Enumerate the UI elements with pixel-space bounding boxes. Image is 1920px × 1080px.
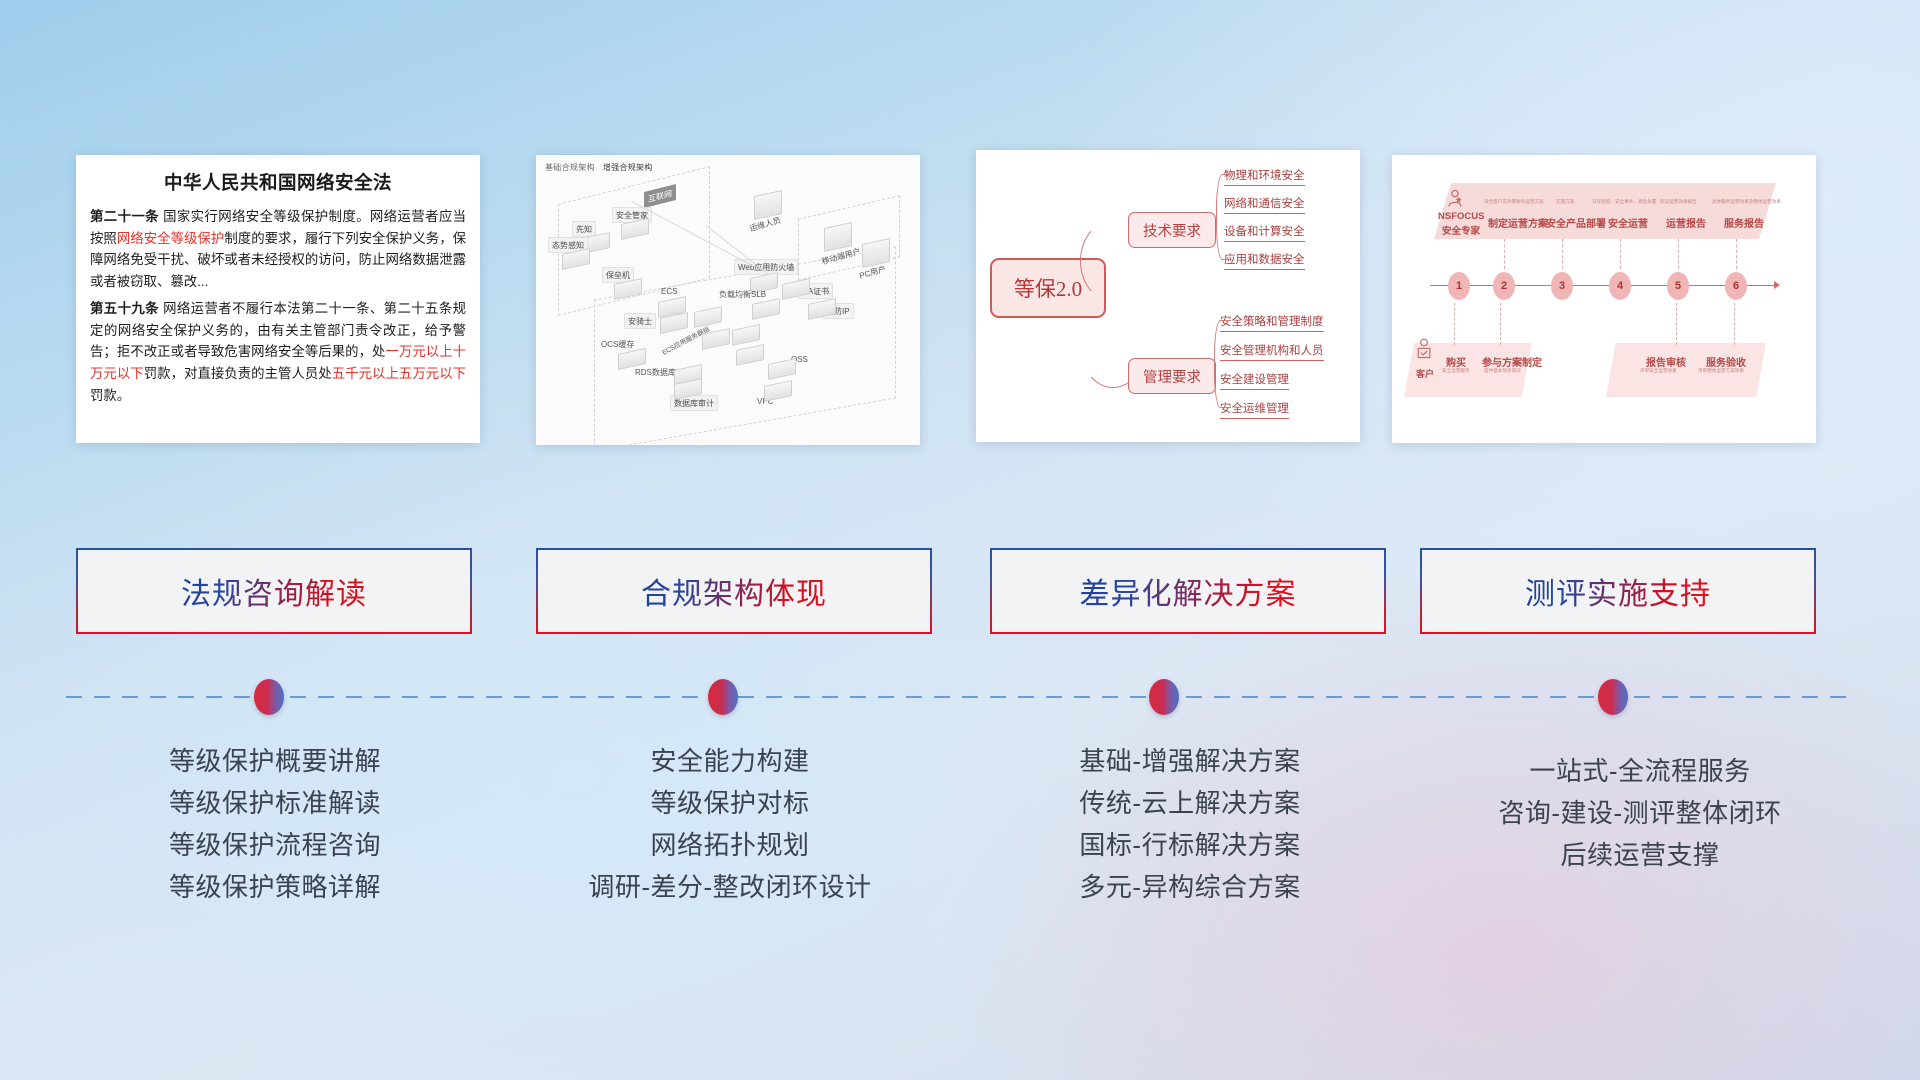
list-item: 网络拓扑规划 bbox=[500, 824, 960, 866]
mindmap-leaf-mgmt-1: 安全策略和管理制度 bbox=[1220, 313, 1324, 332]
arch-node-ocs: OCS缓存 bbox=[598, 337, 637, 351]
architecture-diagram: 基础合规架构增强合规架构 互联网 安全管家 先知 态势感知 保垒机 ECS 安骑… bbox=[536, 155, 920, 445]
flow-step-dot-6: 6 bbox=[1725, 272, 1747, 300]
flow-step-dot-3: 3 bbox=[1551, 272, 1573, 300]
flow-bottom-title-2: 参与方案制定 bbox=[1482, 354, 1542, 369]
mindmap-branch-technical: 技术要求 bbox=[1128, 212, 1216, 248]
list-item: 国标-行标解决方案 bbox=[960, 824, 1420, 866]
category-box-fill-2: 合规架构体现 bbox=[538, 550, 930, 632]
category-box-differentiated-solution[interactable]: 差异化解决方案 bbox=[990, 548, 1386, 634]
flow-band-vendor bbox=[1434, 183, 1776, 239]
category-box-compliance-architecture[interactable]: 合规架构体现 bbox=[536, 548, 932, 634]
mindmap-branch-management: 管理要求 bbox=[1128, 358, 1216, 394]
timeline-dashed-line bbox=[66, 696, 1856, 698]
arch-tab-enhanced[interactable]: 增强合规架构 bbox=[603, 163, 653, 172]
list-item: 等级保护流程咨询 bbox=[60, 824, 490, 866]
law-article-21-label: 第二十一条 bbox=[90, 209, 159, 224]
flow-bottom-sub-4: 评审整体运营方案效果 bbox=[1698, 368, 1744, 374]
arch-tab-basic[interactable]: 基础合规架构 bbox=[545, 163, 595, 172]
flow-customer-role: 客户 bbox=[1416, 367, 1434, 380]
flow-top-title-5: 服务报告 bbox=[1724, 215, 1764, 230]
flow-tick-6 bbox=[1736, 239, 1738, 269]
flow-tick-b1 bbox=[1454, 303, 1456, 345]
preview-card-mindmap[interactable]: 等保2.0 技术要求 管理要求 物理和环境安全 网络和通信安全 设备和计算安全 … bbox=[976, 150, 1360, 442]
flow-step-dot-5: 5 bbox=[1667, 272, 1689, 300]
list-item: 等级保护标准解读 bbox=[60, 782, 490, 824]
flow-bottom-sub-3: 评审安全运营效果 bbox=[1640, 368, 1677, 374]
service-flow-diagram: NSFOCUS 安全专家 符合客户实际需要的运营方案 制定运营方案 实施方案 安… bbox=[1392, 155, 1816, 443]
category-label-2: 合规架构体现 bbox=[641, 569, 827, 613]
flow-top-title-4: 运营报告 bbox=[1666, 215, 1706, 230]
list-item: 等级保护策略详解 bbox=[60, 866, 490, 908]
timeline-dot-2[interactable] bbox=[708, 679, 738, 715]
law-card-body: 中华人民共和国网络安全法 第二十一条 国家实行网络安全等级保护制度。网络运营者应… bbox=[76, 155, 480, 443]
mindmap-leaf-tech-3: 设备和计算安全 bbox=[1224, 223, 1305, 242]
preview-card-architecture[interactable]: 基础合规架构增强合规架构 互联网 安全管家 先知 态势感知 保垒机 ECS 安骑… bbox=[536, 155, 920, 445]
arch-node-slb: 负载均衡SLB bbox=[716, 287, 769, 301]
flow-bottom-title-3: 报告审核 bbox=[1646, 354, 1686, 369]
arch-node-ecs: ECS bbox=[658, 285, 680, 297]
feature-list-4: 一站式-全流程服务 咨询-建设-测评整体闭环 后续运营支撑 bbox=[1420, 750, 1860, 876]
flow-bottom-title-1: 购买 bbox=[1446, 354, 1466, 369]
preview-card-law[interactable]: 中华人民共和国网络安全法 第二十一条 国家实行网络安全等级保护制度。网络运营者应… bbox=[76, 155, 480, 443]
expert-person-icon bbox=[1444, 188, 1466, 210]
flow-tick-b2 bbox=[1500, 303, 1502, 345]
flow-bottom-sub-2: 提供基本现状情况 bbox=[1484, 368, 1521, 374]
timeline-dot-1[interactable] bbox=[254, 679, 284, 715]
list-item: 等级保护对标 bbox=[500, 782, 960, 824]
customer-person-icon bbox=[1414, 337, 1434, 363]
law-article-59-highlight-2: 五千元以上五万元以下 bbox=[332, 366, 466, 381]
category-label-4: 测评实施支持 bbox=[1525, 569, 1711, 613]
list-item: 安全能力构建 bbox=[500, 740, 960, 782]
arch-node-admin: 运维人员 bbox=[745, 212, 785, 236]
mindmap-fan-mgmt bbox=[1214, 320, 1230, 408]
category-label-3: 差异化解决方案 bbox=[1080, 569, 1297, 613]
category-box-regulation-consulting[interactable]: 法规咨询解读 bbox=[76, 548, 472, 634]
flow-top-title-3: 安全运营 bbox=[1608, 215, 1648, 230]
flow-top-sub-1: 符合客户实际需要的运营方案 bbox=[1484, 199, 1544, 205]
flow-tick-b6 bbox=[1734, 303, 1736, 345]
law-article-59: 第五十九条 网络运营者不履行本法第二十一条、第二十五条规定的网络安全保护义务的，… bbox=[90, 298, 466, 407]
list-item: 等级保护概要讲解 bbox=[60, 740, 490, 782]
flow-top-title-1: 制定运营方案 bbox=[1488, 215, 1548, 230]
list-item: 咨询-建设-测评整体闭环 bbox=[1420, 792, 1860, 834]
list-item: 后续运营支撑 bbox=[1420, 834, 1860, 876]
flow-top-sub-2: 实施方案 bbox=[1556, 199, 1574, 205]
feature-list-1: 等级保护概要讲解 等级保护标准解读 等级保护流程咨询 等级保护策略详解 bbox=[60, 740, 490, 908]
timeline-dot-4[interactable] bbox=[1598, 679, 1628, 715]
law-card-title: 中华人民共和国网络安全法 bbox=[90, 169, 466, 195]
law-article-21-highlight: 网络安全等级保护 bbox=[117, 231, 224, 246]
flow-bottom-sub-1: 安全运营服务 bbox=[1442, 368, 1470, 374]
flow-tick-2 bbox=[1504, 239, 1506, 269]
flow-top-sub-5: 总体服务运营效果及整体运营效果 bbox=[1712, 199, 1781, 205]
mindmap-leaf-tech-1: 物理和环境安全 bbox=[1224, 167, 1305, 186]
flow-tick-4 bbox=[1620, 239, 1622, 269]
feature-list-3: 基础-增强解决方案 传统-云上解决方案 国标-行标解决方案 多元-异构综合方案 bbox=[960, 740, 1420, 908]
preview-card-service-flow[interactable]: NSFOCUS 安全专家 符合客户实际需要的运营方案 制定运营方案 实施方案 安… bbox=[1392, 155, 1816, 443]
architecture-tabs: 基础合规架构增强合规架构 bbox=[545, 162, 661, 173]
mindmap-diagram: 等保2.0 技术要求 管理要求 物理和环境安全 网络和通信安全 设备和计算安全 … bbox=[976, 150, 1360, 442]
category-box-fill-4: 测评实施支持 bbox=[1422, 550, 1814, 632]
arch-node-rds: RDS数据库 bbox=[632, 365, 679, 379]
list-item: 基础-增强解决方案 bbox=[960, 740, 1420, 782]
category-box-assessment-support[interactable]: 测评实施支持 bbox=[1420, 548, 1816, 634]
flow-vendor-role: 安全专家 bbox=[1442, 223, 1480, 237]
list-item: 一站式-全流程服务 bbox=[1420, 750, 1860, 792]
mindmap-fan-tech bbox=[1216, 174, 1232, 260]
mindmap-leaf-tech-2: 网络和通信安全 bbox=[1224, 195, 1305, 214]
category-box-fill-1: 法规咨询解读 bbox=[78, 550, 470, 632]
law-article-59-text-b: 罚款，对直接负责的主管人员处 bbox=[144, 366, 332, 381]
list-item: 多元-异构综合方案 bbox=[960, 866, 1420, 908]
category-label-1: 法规咨询解读 bbox=[181, 569, 367, 613]
timeline-dot-3[interactable] bbox=[1149, 679, 1179, 715]
list-item: 调研-差分-整改闭环设计 bbox=[500, 866, 960, 908]
slide-canvas: 中华人民共和国网络安全法 第二十一条 国家实行网络安全等级保护制度。网络运营者应… bbox=[0, 0, 1920, 1080]
flow-step-dot-1: 1 bbox=[1448, 272, 1470, 300]
law-article-59-label: 第五十九条 bbox=[90, 301, 159, 316]
flow-step-dot-2: 2 bbox=[1493, 272, 1515, 300]
mindmap-leaf-tech-4: 应用和数据安全 bbox=[1224, 251, 1305, 270]
flow-top-sub-3: 日常巡检、安全事件、高危处置 bbox=[1592, 199, 1656, 205]
flow-axis-arrow-icon bbox=[1774, 281, 1780, 289]
flow-tick-3 bbox=[1562, 239, 1564, 269]
flow-tick-5 bbox=[1678, 239, 1680, 269]
flow-top-title-2: 安全产品部署 bbox=[1546, 215, 1606, 230]
law-article-59-text-c: 罚款。 bbox=[90, 388, 130, 403]
list-item: 传统-云上解决方案 bbox=[960, 782, 1420, 824]
flow-step-dot-4: 4 bbox=[1609, 272, 1631, 300]
mindmap-leaf-mgmt-4: 安全运维管理 bbox=[1220, 400, 1289, 419]
flow-bottom-title-4: 服务验收 bbox=[1706, 354, 1746, 369]
arch-node-anqishi: 安骑士 bbox=[624, 313, 656, 329]
mindmap-leaf-mgmt-3: 安全建设管理 bbox=[1220, 371, 1289, 390]
flow-tick-b5 bbox=[1676, 303, 1678, 345]
law-article-21: 第二十一条 国家实行网络安全等级保护制度。网络运营者应当按照网络安全等级保护制度… bbox=[90, 206, 466, 293]
mindmap-leaf-mgmt-2: 安全管理机构和人员 bbox=[1220, 342, 1324, 361]
flow-top-sub-4: 阶段运营效果报告 bbox=[1660, 199, 1697, 205]
category-box-fill-3: 差异化解决方案 bbox=[992, 550, 1384, 632]
flow-vendor-name: NSFOCUS bbox=[1438, 211, 1484, 222]
feature-list-2: 安全能力构建 等级保护对标 网络拓扑规划 调研-差分-整改闭环设计 bbox=[500, 740, 960, 908]
